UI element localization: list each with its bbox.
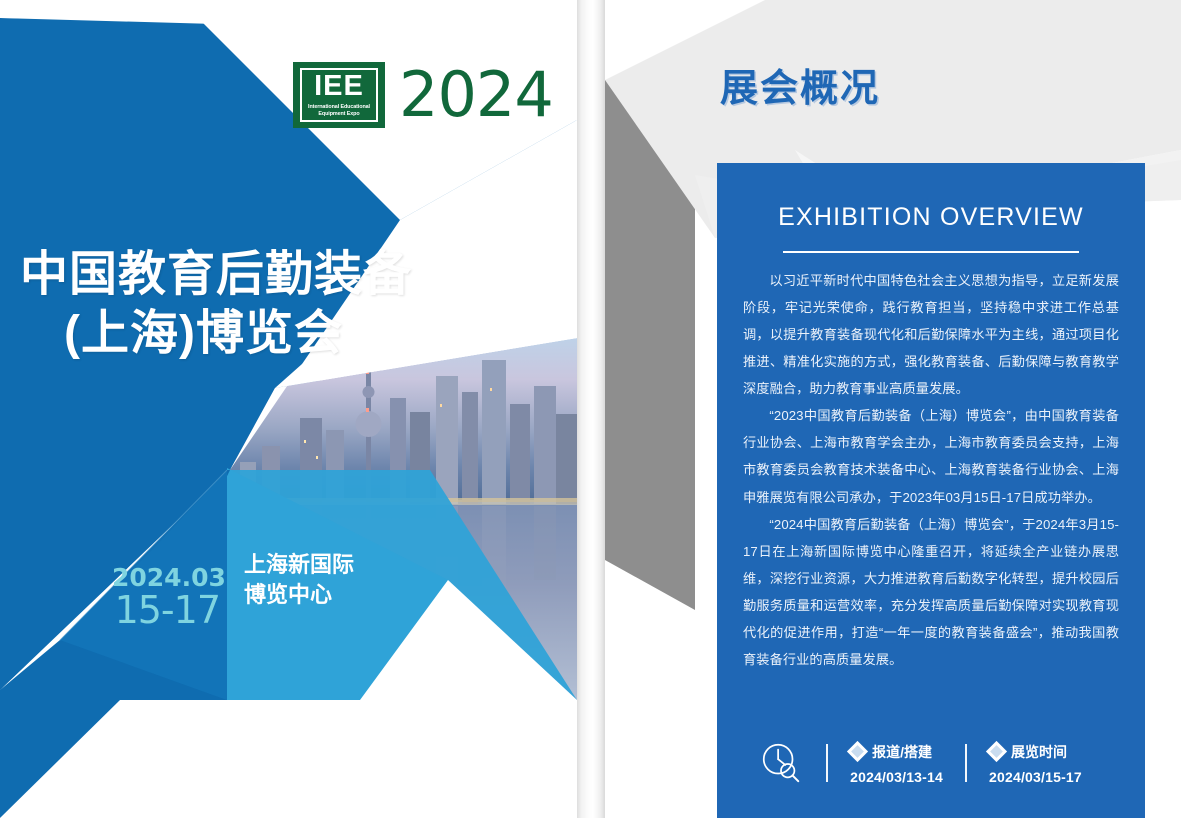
logo-year: 2024 bbox=[399, 64, 553, 126]
overview-paragraph: “2023中国教育后勤装备（上海）博览会”，由中国教育装备行业协会、上海市教育学… bbox=[743, 402, 1119, 510]
info-separator bbox=[826, 744, 828, 782]
event-date: 2024.03 15-17 bbox=[112, 565, 220, 630]
right-page: 展会概况 EXHIBITION OVERVIEW 以习近平新时代中国特色社会主义… bbox=[605, 0, 1181, 818]
schedule-item-label: 展览时间 bbox=[1011, 742, 1067, 762]
diamond-icon bbox=[986, 741, 1007, 762]
schedule-info-bar: 报道/搭建 2024/03/13-14 展览时间 2024/03/15-17 bbox=[717, 740, 1145, 786]
iee-logo-inner-frame: IEE International Educational Equipment … bbox=[300, 68, 378, 122]
card-title-rule bbox=[783, 251, 1079, 253]
schedule-item-exhibition: 展览时间 2024/03/15-17 bbox=[967, 742, 1104, 785]
title-line-2: (上海)博览会 bbox=[20, 305, 412, 364]
overview-paragraph: “2024中国教育后勤装备（上海）博览会”，于2024年3月15-17日在上海新… bbox=[743, 511, 1119, 673]
iee-logo-mark: IEE International Educational Equipment … bbox=[293, 62, 385, 128]
section-heading: 展会概况 bbox=[720, 70, 880, 108]
schedule-item-label: 报道/搭建 bbox=[872, 742, 932, 762]
iee-logo-subtitle: International Educational Equipment Expo bbox=[308, 104, 370, 117]
brochure-page: IEE International Educational Equipment … bbox=[0, 0, 1181, 818]
page-spine-divider bbox=[577, 0, 605, 818]
schedule-item-date: 2024/03/15-17 bbox=[989, 769, 1082, 785]
clock-search-icon bbox=[758, 740, 804, 786]
iee-logo-text: IEE bbox=[314, 72, 364, 101]
info-separator bbox=[965, 744, 967, 782]
title-line-1: 中国教育后勤装备 bbox=[20, 246, 412, 305]
iee-logo: IEE International Educational Equipment … bbox=[293, 62, 553, 128]
venue-line-1: 上海新国际 bbox=[244, 550, 354, 580]
exhibition-overview-card: EXHIBITION OVERVIEW 以习近平新时代中国特色社会主义思想为指导… bbox=[717, 163, 1145, 818]
event-venue: 上海新国际 博览中心 bbox=[244, 550, 354, 609]
overview-body: 以习近平新时代中国特色社会主义思想为指导，立足新发展阶段，牢记光荣使命，践行教育… bbox=[743, 267, 1119, 673]
page-title: 中国教育后勤装备 (上海)博览会 bbox=[20, 246, 412, 363]
schedule-item-header: 报道/搭建 bbox=[850, 742, 943, 762]
event-date-days: 15-17 bbox=[112, 591, 220, 630]
venue-line-2: 博览中心 bbox=[244, 580, 354, 610]
schedule-item-header: 展览时间 bbox=[989, 742, 1082, 762]
schedule-item-setup: 报道/搭建 2024/03/13-14 bbox=[828, 742, 965, 785]
schedule-item-date: 2024/03/13-14 bbox=[850, 769, 943, 785]
overview-paragraph: 以习近平新时代中国特色社会主义思想为指导，立足新发展阶段，牢记光荣使命，践行教育… bbox=[743, 267, 1119, 402]
left-page: IEE International Educational Equipment … bbox=[0, 0, 577, 818]
card-title: EXHIBITION OVERVIEW bbox=[743, 203, 1119, 232]
diamond-icon bbox=[847, 741, 868, 762]
